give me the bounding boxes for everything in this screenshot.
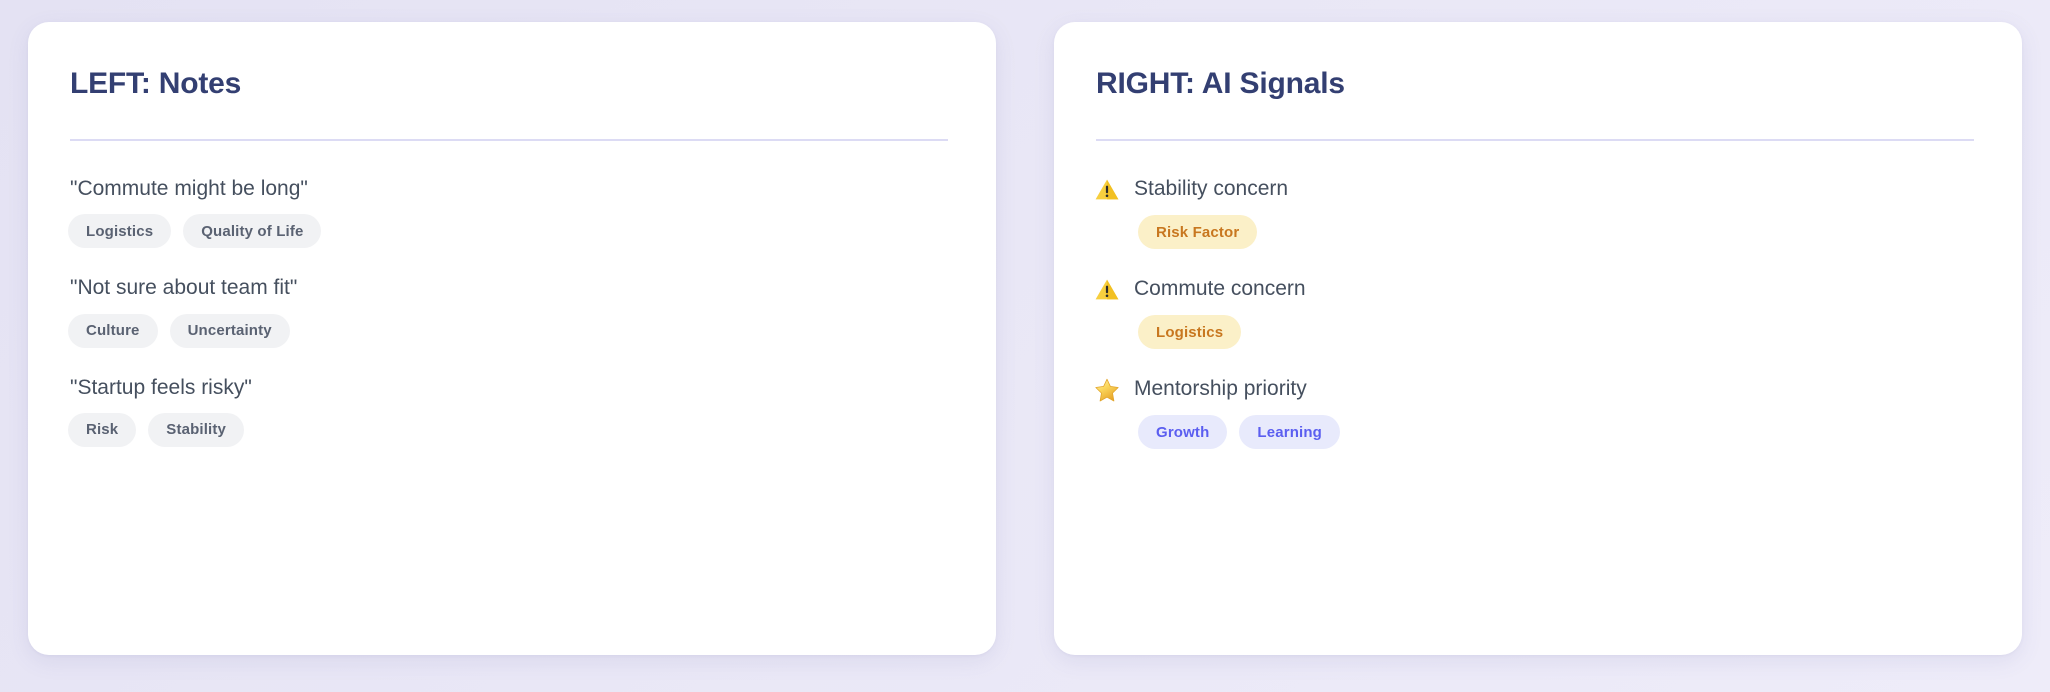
right-panel-divider — [1096, 139, 1974, 141]
left-panel-divider — [70, 139, 948, 141]
signal-tag[interactable]: Growth — [1138, 415, 1227, 449]
note-tag-row: Culture Uncertainty — [68, 314, 950, 348]
right-panel-title: RIGHT: AI Signals — [1096, 66, 1976, 102]
right-ai-signals-card: RIGHT: AI Signals Stability concern Risk… — [1054, 22, 2022, 655]
note-tag[interactable]: Logistics — [68, 214, 171, 248]
left-panel-title: LEFT: Notes — [70, 66, 950, 102]
list-item[interactable]: "Not sure about team fit" Culture Uncert… — [68, 274, 950, 347]
signal-label: Stability concern — [1134, 175, 1288, 202]
signal-header: Stability concern — [1094, 175, 1976, 204]
note-tag[interactable]: Quality of Life — [183, 214, 321, 248]
note-text: "Commute might be long" — [70, 175, 950, 202]
notes-list: "Commute might be long" Logistics Qualit… — [68, 175, 950, 447]
signal-label: Commute concern — [1134, 275, 1306, 302]
note-tag[interactable]: Uncertainty — [170, 314, 290, 348]
list-item[interactable]: Mentorship priority Growth Learning — [1094, 375, 1976, 449]
note-tag[interactable]: Risk — [68, 413, 136, 447]
dual-panel-board: LEFT: Notes "Commute might be long" Logi… — [0, 0, 2050, 692]
list-item[interactable]: Commute concern Logistics — [1094, 275, 1976, 349]
signal-tag-row: Risk Factor — [1138, 215, 1976, 249]
signal-tag[interactable]: Learning — [1239, 415, 1340, 449]
star-icon — [1094, 376, 1120, 404]
note-text: "Not sure about team fit" — [70, 274, 950, 301]
note-tag[interactable]: Stability — [148, 413, 244, 447]
note-tag-row: Risk Stability — [68, 413, 950, 447]
list-item[interactable]: "Startup feels risky" Risk Stability — [68, 374, 950, 447]
note-tag-row: Logistics Quality of Life — [68, 214, 950, 248]
signal-label: Mentorship priority — [1134, 375, 1307, 402]
left-notes-card: LEFT: Notes "Commute might be long" Logi… — [28, 22, 996, 655]
note-text: "Startup feels risky" — [70, 374, 950, 401]
warning-triangle-icon — [1094, 276, 1120, 304]
list-item[interactable]: Stability concern Risk Factor — [1094, 175, 1976, 249]
signal-header: Mentorship priority — [1094, 375, 1976, 404]
note-tag[interactable]: Culture — [68, 314, 158, 348]
list-item[interactable]: "Commute might be long" Logistics Qualit… — [68, 175, 950, 248]
warning-triangle-icon — [1094, 176, 1120, 204]
signal-header: Commute concern — [1094, 275, 1976, 304]
signals-list: Stability concern Risk Factor Commute co… — [1094, 175, 1976, 449]
signal-tag[interactable]: Logistics — [1138, 315, 1241, 349]
signal-tag[interactable]: Risk Factor — [1138, 215, 1257, 249]
signal-tag-row: Logistics — [1138, 315, 1976, 349]
signal-tag-row: Growth Learning — [1138, 415, 1976, 449]
